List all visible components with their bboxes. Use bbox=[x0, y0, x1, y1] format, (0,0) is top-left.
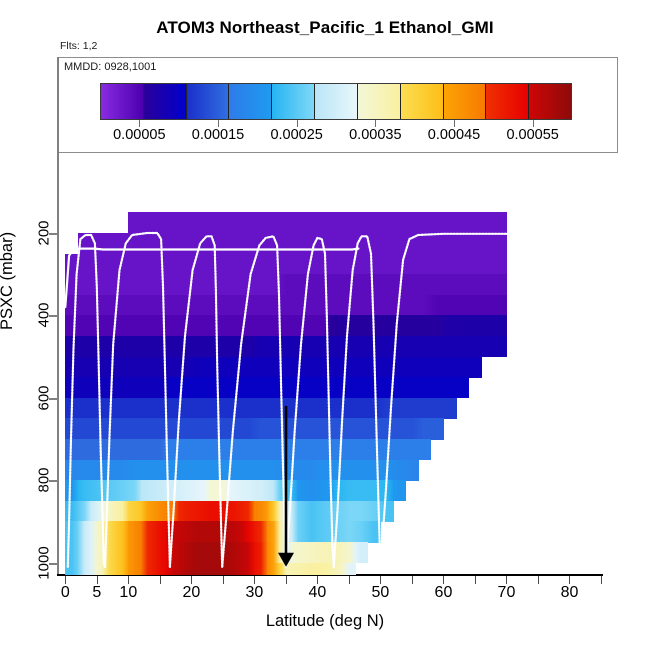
heatmap-cell bbox=[393, 418, 406, 439]
heatmap-cell bbox=[204, 563, 217, 575]
colorbar-tick-label-2: 0.00025 bbox=[270, 127, 322, 143]
heatmap-cell bbox=[330, 563, 343, 575]
heatmap-cell bbox=[179, 542, 192, 563]
heatmap-cell bbox=[418, 377, 431, 398]
heatmap-cell bbox=[217, 480, 230, 501]
heatmap-cell bbox=[368, 336, 381, 357]
heatmap-cell bbox=[217, 521, 230, 542]
heatmap-cell bbox=[78, 336, 91, 357]
heatmap-cell bbox=[166, 254, 179, 275]
heatmap-cell bbox=[128, 501, 141, 522]
heatmap-cell bbox=[305, 377, 318, 398]
heatmap-cell bbox=[65, 398, 78, 419]
heatmap-cell bbox=[330, 274, 343, 295]
heatmap-cell bbox=[217, 233, 230, 254]
heatmap-cell bbox=[141, 212, 154, 233]
x-tick-40 bbox=[317, 576, 318, 584]
heatmap-cell bbox=[317, 501, 330, 522]
heatmap-cell bbox=[166, 233, 179, 254]
heatmap-cell bbox=[229, 439, 242, 460]
heatmap-cell bbox=[141, 398, 154, 419]
heatmap-cell bbox=[254, 315, 267, 336]
heatmap-cell bbox=[78, 398, 91, 419]
heatmap-cell bbox=[141, 315, 154, 336]
heatmap-cell bbox=[229, 212, 242, 233]
heatmap-cell bbox=[217, 398, 230, 419]
heatmap-cell bbox=[204, 212, 217, 233]
heatmap-cell bbox=[154, 398, 167, 419]
heatmap-cell bbox=[267, 398, 280, 419]
heatmap-cell bbox=[65, 418, 78, 439]
heatmap-cell bbox=[116, 398, 129, 419]
heatmap-cell bbox=[418, 398, 431, 419]
heatmap-cell bbox=[141, 233, 154, 254]
heatmap-cell bbox=[443, 377, 456, 398]
heatmap-cell bbox=[280, 336, 293, 357]
heatmap-cell bbox=[229, 521, 242, 542]
heatmap-cell bbox=[292, 336, 305, 357]
heatmap-cell bbox=[103, 501, 116, 522]
heatmap-cell bbox=[317, 377, 330, 398]
heatmap-cell bbox=[116, 254, 129, 275]
heatmap-cell bbox=[91, 336, 104, 357]
colorbar-tick-5 bbox=[533, 120, 534, 127]
heatmap-cell bbox=[280, 315, 293, 336]
heatmap-cell bbox=[355, 357, 368, 378]
heatmap-cell bbox=[305, 254, 318, 275]
heatmap-cell bbox=[330, 521, 343, 542]
heatmap-cell bbox=[103, 563, 116, 575]
heatmap-cell bbox=[116, 357, 129, 378]
heatmap-cell bbox=[418, 254, 431, 275]
heatmap-cell bbox=[368, 254, 381, 275]
heatmap-cell bbox=[317, 439, 330, 460]
heatmap-cell bbox=[154, 418, 167, 439]
heatmap-cell bbox=[481, 254, 494, 275]
heatmap-cell bbox=[456, 212, 469, 233]
heatmap-cell bbox=[317, 480, 330, 501]
heatmap-cell bbox=[116, 336, 129, 357]
heatmap-cell bbox=[317, 254, 330, 275]
heatmap-cell bbox=[179, 501, 192, 522]
heatmap-cell bbox=[355, 315, 368, 336]
heatmap-cell bbox=[78, 274, 91, 295]
heatmap-cell bbox=[267, 233, 280, 254]
heatmap-cell bbox=[418, 439, 431, 460]
heatmap-cell bbox=[317, 398, 330, 419]
heatmap-cell bbox=[242, 212, 255, 233]
heatmap-cell bbox=[103, 357, 116, 378]
heatmap-cell bbox=[141, 274, 154, 295]
heatmap-cell bbox=[317, 274, 330, 295]
heatmap-cell bbox=[254, 418, 267, 439]
heatmap-cell bbox=[65, 501, 78, 522]
heatmap-cell bbox=[481, 336, 494, 357]
heatmap-cell bbox=[65, 357, 78, 378]
heatmap-cell bbox=[204, 295, 217, 316]
heatmap-cell bbox=[380, 212, 393, 233]
heatmap-cell bbox=[242, 460, 255, 481]
heatmap-cell bbox=[91, 460, 104, 481]
heatmap-cell bbox=[154, 233, 167, 254]
heatmap-cell bbox=[443, 274, 456, 295]
heatmap-cell bbox=[154, 357, 167, 378]
heatmap-cell bbox=[91, 295, 104, 316]
heatmap-cell bbox=[456, 295, 469, 316]
heatmap-cell bbox=[443, 336, 456, 357]
heatmap-cell bbox=[242, 418, 255, 439]
heatmap-cell bbox=[78, 542, 91, 563]
heatmap-cell bbox=[469, 315, 482, 336]
heatmap-cell bbox=[166, 377, 179, 398]
heatmap-cell bbox=[494, 336, 507, 357]
heatmap-cell bbox=[494, 233, 507, 254]
heatmap-cell bbox=[254, 439, 267, 460]
heatmap-cell bbox=[154, 501, 167, 522]
heatmap-cell bbox=[166, 295, 179, 316]
heatmap-cell bbox=[166, 439, 179, 460]
heatmap-cell bbox=[456, 377, 469, 398]
colorbar-segment-2 bbox=[187, 84, 230, 119]
heatmap-cell bbox=[191, 254, 204, 275]
heatmap-cell bbox=[355, 521, 368, 542]
heatmap-cell bbox=[494, 212, 507, 233]
heatmap-cell bbox=[343, 357, 356, 378]
heatmap-cell bbox=[481, 315, 494, 336]
heatmap-cell bbox=[242, 521, 255, 542]
heatmap-cell bbox=[443, 233, 456, 254]
heatmap-cell bbox=[217, 315, 230, 336]
heatmap-cell bbox=[242, 274, 255, 295]
heatmap-cell bbox=[191, 315, 204, 336]
heatmap-cell bbox=[494, 315, 507, 336]
heatmap-cell bbox=[141, 480, 154, 501]
heatmap-cell bbox=[65, 439, 78, 460]
heatmap-cell bbox=[469, 274, 482, 295]
x-tick-0 bbox=[65, 576, 66, 584]
heatmap-cell bbox=[393, 233, 406, 254]
heatmap-cell bbox=[154, 439, 167, 460]
heatmap-cell bbox=[330, 418, 343, 439]
heatmap-cell bbox=[78, 377, 91, 398]
heatmap-cell bbox=[91, 357, 104, 378]
heatmap-cell bbox=[406, 295, 419, 316]
heatmap-cell bbox=[406, 460, 419, 481]
heatmap-cell bbox=[103, 418, 116, 439]
heatmap-cell bbox=[242, 254, 255, 275]
heatmap-cell bbox=[481, 212, 494, 233]
y-tick-label-1000: 1000 bbox=[36, 546, 53, 579]
heatmap-cell bbox=[418, 295, 431, 316]
heatmap-cell bbox=[406, 418, 419, 439]
heatmap-cell bbox=[229, 377, 242, 398]
heatmap-cell bbox=[91, 563, 104, 575]
heatmap-cell bbox=[494, 274, 507, 295]
heatmap-cell bbox=[154, 460, 167, 481]
heatmap-cell bbox=[317, 233, 330, 254]
heatmap-cell bbox=[229, 501, 242, 522]
heatmap-cell bbox=[368, 398, 381, 419]
heatmap-cell bbox=[254, 501, 267, 522]
heatmap-cell bbox=[380, 480, 393, 501]
heatmap-cell bbox=[267, 418, 280, 439]
heatmap-cell bbox=[78, 480, 91, 501]
heatmap-cell bbox=[292, 315, 305, 336]
heatmap-cell bbox=[368, 315, 381, 336]
heatmap-cell bbox=[393, 274, 406, 295]
x-tick-label-50: 50 bbox=[372, 584, 390, 602]
x-tick-label-30: 30 bbox=[245, 584, 263, 602]
heatmap-cell bbox=[393, 398, 406, 419]
x-tick-15 bbox=[160, 576, 161, 584]
colorbar-segment-6 bbox=[358, 84, 401, 119]
heatmap-cell bbox=[254, 542, 267, 563]
heatmap-cell bbox=[217, 542, 230, 563]
heatmap-cell bbox=[368, 357, 381, 378]
heatmap-cell bbox=[91, 254, 104, 275]
heatmap-cell bbox=[141, 377, 154, 398]
colorbar-tick-2 bbox=[297, 120, 298, 127]
colorbar-tick-1 bbox=[218, 120, 219, 127]
heatmap-cell bbox=[267, 480, 280, 501]
heatmap-cell bbox=[91, 521, 104, 542]
heatmap-cell bbox=[242, 233, 255, 254]
x-tick-25 bbox=[223, 576, 224, 584]
heatmap-cell bbox=[368, 418, 381, 439]
heatmap-cell bbox=[78, 254, 91, 275]
heatmap-cell bbox=[368, 274, 381, 295]
heatmap-cell bbox=[330, 212, 343, 233]
heatmap-cell bbox=[128, 233, 141, 254]
heatmap-cell bbox=[179, 212, 192, 233]
heatmap-cell bbox=[65, 521, 78, 542]
heatmap-cell bbox=[317, 315, 330, 336]
heatmap-cell bbox=[431, 336, 444, 357]
heatmap-cell bbox=[191, 521, 204, 542]
page-title: ATOM3 Northeast_Pacific_1 Ethanol_GMI bbox=[0, 18, 650, 38]
heatmap-cell bbox=[166, 501, 179, 522]
y-tick-label-400: 400 bbox=[36, 303, 53, 328]
heatmap-cell bbox=[280, 398, 293, 419]
heatmap-cell bbox=[116, 439, 129, 460]
heatmap-cell bbox=[292, 439, 305, 460]
colorbar-tick-0 bbox=[139, 120, 140, 127]
heatmap-cell bbox=[103, 254, 116, 275]
x-tick-label-60: 60 bbox=[435, 584, 453, 602]
heatmap-cell bbox=[280, 542, 293, 563]
heatmap-cell bbox=[78, 460, 91, 481]
heatmap-cell bbox=[292, 254, 305, 275]
heatmap-cell bbox=[343, 336, 356, 357]
heatmap-cell bbox=[368, 377, 381, 398]
heatmap-cell bbox=[65, 377, 78, 398]
heatmap-cell bbox=[469, 212, 482, 233]
heatmap-cell bbox=[128, 254, 141, 275]
y-axis-title: PSXC (mbar) bbox=[0, 232, 17, 330]
x-tick-60 bbox=[443, 576, 444, 584]
heatmap-cell bbox=[179, 357, 192, 378]
heatmap-cell bbox=[204, 501, 217, 522]
heatmap-cell bbox=[179, 480, 192, 501]
heatmap-cell bbox=[406, 398, 419, 419]
heatmap-cell bbox=[456, 274, 469, 295]
heatmap-cell bbox=[229, 542, 242, 563]
heatmap-cell bbox=[456, 233, 469, 254]
heatmap-cell bbox=[179, 398, 192, 419]
heatmap-cell bbox=[78, 439, 91, 460]
heatmap-cell bbox=[431, 357, 444, 378]
heatmap-cell bbox=[204, 418, 217, 439]
heatmap-grid bbox=[59, 200, 601, 575]
colorbar-tick-label-5: 0.00055 bbox=[506, 127, 558, 143]
heatmap-cell bbox=[217, 254, 230, 275]
heatmap-cell bbox=[330, 315, 343, 336]
heatmap-cell bbox=[78, 501, 91, 522]
colorbar-tick-4 bbox=[454, 120, 455, 127]
heatmap-cell bbox=[280, 233, 293, 254]
heatmap-cell bbox=[355, 460, 368, 481]
heatmap-cell bbox=[380, 439, 393, 460]
heatmap-cell bbox=[91, 233, 104, 254]
heatmap-cell bbox=[292, 398, 305, 419]
heatmap-cell bbox=[355, 398, 368, 419]
heatmap-cell bbox=[242, 563, 255, 575]
heatmap-cell bbox=[406, 377, 419, 398]
heatmap-cell bbox=[343, 377, 356, 398]
heatmap-cell bbox=[305, 336, 318, 357]
heatmap-cell bbox=[267, 521, 280, 542]
heatmap-cell bbox=[217, 336, 230, 357]
heatmap-cell bbox=[368, 521, 381, 542]
heatmap-cell bbox=[317, 336, 330, 357]
heatmap-cell bbox=[91, 542, 104, 563]
heatmap-cell bbox=[431, 233, 444, 254]
x-tick-20 bbox=[191, 576, 192, 584]
heatmap-cell bbox=[431, 377, 444, 398]
heatmap-cell bbox=[380, 501, 393, 522]
heatmap-cell bbox=[204, 233, 217, 254]
heatmap-cell bbox=[254, 357, 267, 378]
colorbar-segment-3 bbox=[229, 84, 272, 119]
heatmap-cell bbox=[456, 254, 469, 275]
heatmap-cell bbox=[431, 398, 444, 419]
heatmap-cell bbox=[191, 377, 204, 398]
heatmap-cell bbox=[267, 460, 280, 481]
heatmap-cell bbox=[343, 398, 356, 419]
heatmap-cell bbox=[292, 501, 305, 522]
heatmap-cell bbox=[267, 377, 280, 398]
heatmap-cell bbox=[254, 480, 267, 501]
heatmap-cell bbox=[406, 274, 419, 295]
heatmap-cell bbox=[154, 521, 167, 542]
heatmap-cell bbox=[217, 377, 230, 398]
heatmap-cell bbox=[469, 254, 482, 275]
mmdd-label: MMDD: 0928,1001 bbox=[64, 61, 156, 73]
heatmap-cell bbox=[317, 563, 330, 575]
heatmap-cell bbox=[166, 460, 179, 481]
heatmap-cell bbox=[103, 274, 116, 295]
heatmap-cell bbox=[355, 377, 368, 398]
heatmap-cell bbox=[141, 521, 154, 542]
heatmap-cell bbox=[242, 336, 255, 357]
heatmap-cell bbox=[217, 212, 230, 233]
heatmap-cell bbox=[254, 460, 267, 481]
colorbar-segment-10 bbox=[529, 84, 571, 119]
heatmap-cell bbox=[380, 336, 393, 357]
heatmap-cell bbox=[166, 563, 179, 575]
heatmap-cell bbox=[330, 542, 343, 563]
heatmap-cell bbox=[103, 398, 116, 419]
colorbar-tick-label-0: 0.00005 bbox=[113, 127, 165, 143]
heatmap-cell bbox=[128, 439, 141, 460]
heatmap-cell bbox=[229, 233, 242, 254]
heatmap-cell bbox=[292, 357, 305, 378]
heatmap-cell bbox=[355, 480, 368, 501]
heatmap-cell bbox=[305, 233, 318, 254]
heatmap-cell bbox=[280, 521, 293, 542]
heatmap-cell bbox=[343, 460, 356, 481]
heatmap-cell bbox=[393, 377, 406, 398]
heatmap-cell bbox=[179, 460, 192, 481]
heatmap-cell bbox=[305, 212, 318, 233]
heatmap-cell bbox=[116, 418, 129, 439]
x-tick-65 bbox=[475, 576, 476, 584]
heatmap-cell bbox=[292, 212, 305, 233]
heatmap-cell bbox=[368, 480, 381, 501]
heatmap-cell bbox=[65, 460, 78, 481]
heatmap-cell bbox=[393, 212, 406, 233]
heatmap-cell bbox=[103, 233, 116, 254]
x-tick-label-70: 70 bbox=[498, 584, 516, 602]
heatmap-cell bbox=[355, 295, 368, 316]
heatmap-cell bbox=[217, 439, 230, 460]
heatmap-cell bbox=[267, 254, 280, 275]
y-tick-label-800: 800 bbox=[36, 468, 53, 493]
heatmap-cell bbox=[103, 295, 116, 316]
heatmap-cell bbox=[355, 542, 368, 563]
heatmap-cell bbox=[443, 254, 456, 275]
heatmap-cell bbox=[65, 563, 78, 575]
heatmap-cell bbox=[166, 521, 179, 542]
heatmap-cell bbox=[481, 274, 494, 295]
heatmap-cell bbox=[154, 377, 167, 398]
heatmap-cell bbox=[305, 315, 318, 336]
heatmap-cell bbox=[317, 521, 330, 542]
heatmap-cell bbox=[217, 295, 230, 316]
heatmap-cell bbox=[305, 521, 318, 542]
heatmap-cell bbox=[292, 377, 305, 398]
colorbar-tick-label-1: 0.00015 bbox=[192, 127, 244, 143]
heatmap-cell bbox=[330, 480, 343, 501]
heatmap-cell bbox=[116, 521, 129, 542]
heatmap-cell bbox=[141, 295, 154, 316]
heatmap-cell bbox=[380, 357, 393, 378]
heatmap-cell bbox=[78, 521, 91, 542]
heatmap-cell bbox=[481, 233, 494, 254]
heatmap-cell bbox=[154, 563, 167, 575]
colorbar-tick-labels: 0.000050.000150.000250.000350.000450.000… bbox=[0, 127, 650, 147]
heatmap-cell bbox=[229, 418, 242, 439]
heatmap-cell bbox=[65, 336, 78, 357]
heatmap-cell bbox=[355, 439, 368, 460]
heatmap-cell bbox=[343, 480, 356, 501]
colorbar-segment-0 bbox=[101, 84, 144, 119]
heatmap-cell bbox=[217, 418, 230, 439]
heatmap-cell bbox=[343, 295, 356, 316]
colorbar-segment-4 bbox=[272, 84, 315, 119]
heatmap-cell bbox=[280, 563, 293, 575]
x-tick-label-40: 40 bbox=[308, 584, 326, 602]
